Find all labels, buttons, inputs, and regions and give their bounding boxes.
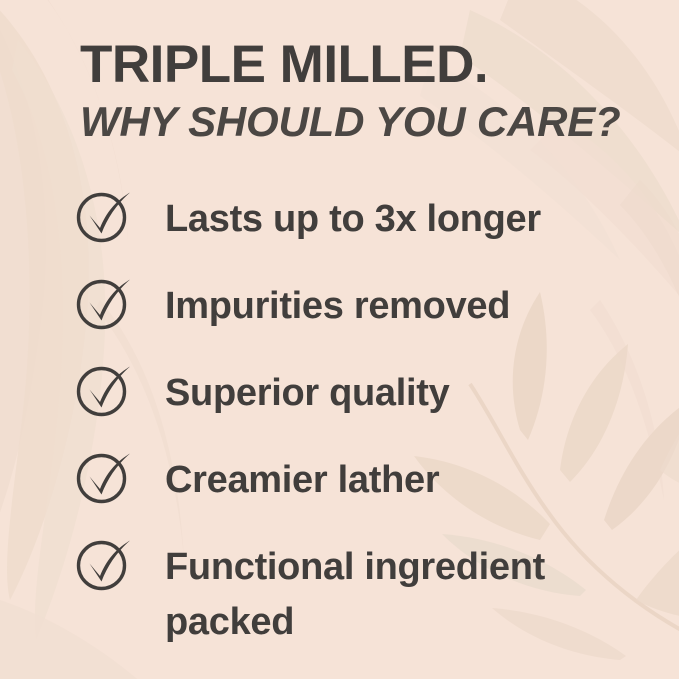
headline-block: TRIPLE MILLED. WHY SHOULD YOU CARE? bbox=[80, 38, 640, 144]
list-item: Lasts up to 3x longer bbox=[76, 192, 666, 279]
list-item: Impurities removed bbox=[76, 279, 666, 366]
list-item: Creamier lather bbox=[76, 453, 666, 540]
check-circle-icon bbox=[76, 277, 132, 333]
check-circle-icon bbox=[76, 538, 132, 594]
check-circle-icon bbox=[76, 364, 132, 420]
check-circle-icon bbox=[76, 190, 132, 246]
check-circle-icon bbox=[76, 451, 132, 507]
product-benefits-poster: TRIPLE MILLED. WHY SHOULD YOU CARE? Last… bbox=[0, 0, 679, 679]
benefit-label: Creamier lather bbox=[165, 453, 605, 508]
list-item: Functional ingredient packed bbox=[76, 540, 666, 627]
page-subtitle: WHY SHOULD YOU CARE? bbox=[80, 100, 640, 144]
benefit-label: Functional ingredient packed bbox=[165, 540, 605, 650]
benefits-list: Lasts up to 3x longer Impurities removed… bbox=[76, 192, 666, 627]
benefit-label: Superior quality bbox=[165, 366, 605, 421]
benefit-label: Impurities removed bbox=[165, 279, 605, 334]
page-title: TRIPLE MILLED. bbox=[80, 38, 640, 92]
benefit-label: Lasts up to 3x longer bbox=[165, 192, 605, 247]
list-item: Superior quality bbox=[76, 366, 666, 453]
